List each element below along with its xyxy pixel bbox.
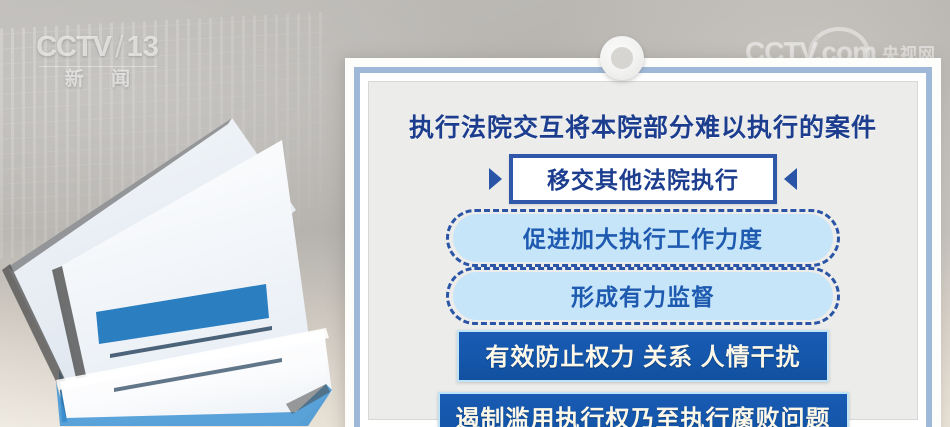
row-curb: 遏制滥用执行权乃至执行腐败问题 (438, 392, 849, 427)
triangle-right-icon (489, 168, 502, 190)
panel-headline: 执行法院交互将本院部分难以执行的案件 (409, 108, 877, 144)
channel-underline-divider (39, 66, 157, 67)
row-promote-label: 促进加大执行工作力度 (453, 214, 833, 262)
row-supervision-label: 形成有力监督 (453, 272, 833, 320)
channel-number: 13 (127, 33, 159, 62)
info-panel: 执行法院交互将本院部分难以执行的案件 移交其他法院执行 促进加大执行工作力度 形… (345, 58, 941, 427)
channel-slash: / (114, 31, 124, 62)
row-prevent-label: 有效防止权力 关系 人情干扰 (457, 330, 828, 382)
channel-subtitle: 新 闻 (30, 69, 165, 92)
row-curb-label: 遏制滥用执行权乃至执行腐败问题 (438, 392, 849, 427)
row-prevent: 有效防止权力 关系 人情干扰 (457, 330, 828, 382)
channel-logo-bug: CCTV / 13 新 闻 (30, 32, 165, 92)
row-promote: 促进加大执行工作力度 (453, 214, 833, 262)
panel-content: 执行法院交互将本院部分难以执行的案件 移交其他法院执行 促进加大执行工作力度 形… (368, 81, 918, 420)
panel-border-frame: 执行法院交互将本院部分难以执行的案件 移交其他法院执行 促进加大执行工作力度 形… (354, 67, 932, 427)
row-transfer: 移交其他法院执行 (489, 154, 797, 204)
triangle-left-icon (784, 168, 797, 190)
row-supervision: 形成有力监督 (453, 272, 833, 320)
documents-folder-illustration (0, 92, 346, 427)
channel-logo-row: CCTV / 13 (30, 32, 165, 63)
circle-knob-icon (600, 36, 644, 80)
broadcast-screenshot: CCTV / 13 新 闻 CCTV.com 央视网 (0, 0, 950, 427)
row-transfer-label: 移交其他法院执行 (509, 154, 777, 204)
channel-name: CCTV (36, 33, 111, 62)
